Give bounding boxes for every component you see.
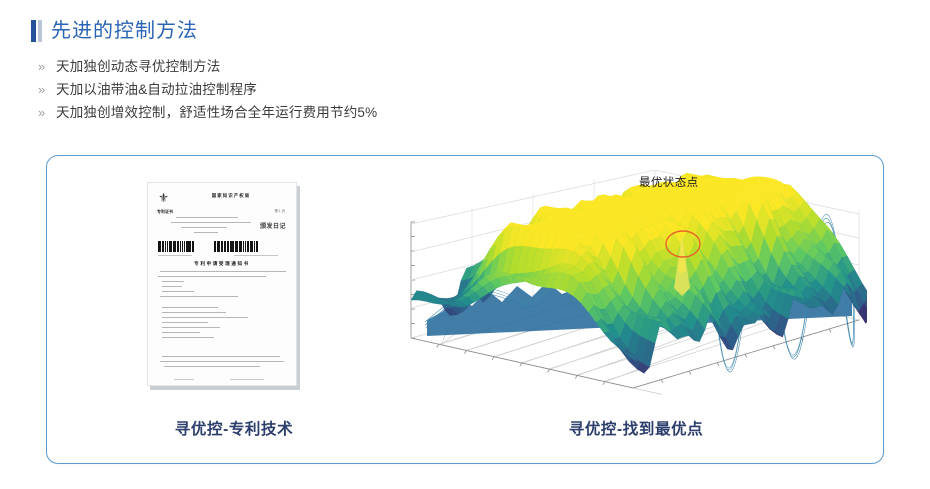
document-stamp: 颁发日记 [260, 221, 286, 230]
chevron-double-right-icon: » [38, 101, 56, 124]
surface-plot-panel: 最优状态点 [387, 156, 885, 463]
list-item-label: 天加以油带油&自动拉油控制程序 [56, 78, 257, 101]
list-item: » 天加独创动态寻优控制方法 [38, 55, 738, 78]
document-page: ⚜ 国家知识产权局 专利证书 第 1 页 颁发日记 [147, 182, 297, 386]
patent-panel: ⚜ 国家知识产权局 专利证书 第 1 页 颁发日记 [69, 156, 399, 463]
page-title-text: 先进的控制方法 [51, 20, 198, 42]
surface-mesh [411, 173, 867, 373]
list-item-label: 天加独创动态寻优控制方法 [56, 55, 220, 78]
document-subtitle: 专利证书 [157, 209, 173, 215]
barcode-right [214, 241, 258, 252]
national-emblem-icon: ⚜ [157, 191, 170, 205]
document-page-number: 第 1 页 [274, 208, 285, 213]
list-item: » 天加以油带油&自动拉油控制程序 [38, 78, 738, 101]
chevron-double-right-icon: » [38, 55, 56, 78]
list-item: » 天加独创增效控制，舒适性场合全年运行费用节约5% [38, 101, 738, 124]
surface-plot-svg [397, 170, 867, 400]
page-title: 先进的控制方法 [31, 18, 198, 44]
chevron-double-right-icon: » [38, 78, 56, 101]
heading-bars-icon [31, 20, 42, 42]
content-card: ⚜ 国家知识产权局 专利证书 第 1 页 颁发日记 [46, 155, 884, 464]
surface-plot-caption: 寻优控-找到最优点 [387, 417, 885, 439]
patent-caption: 寻优控-专利技术 [69, 417, 399, 439]
patent-document-image: ⚜ 国家知识产权局 专利证书 第 1 页 颁发日记 [147, 182, 297, 386]
optimal-point-annotation: 最优状态点 [639, 174, 699, 190]
document-body-title: 专利申请受理通知书 [148, 261, 296, 267]
feature-bullet-list: » 天加独创动态寻优控制方法 » 天加以油带油&自动拉油控制程序 » 天加独创增… [38, 55, 738, 124]
document-title: 国家知识产权局 [194, 193, 268, 199]
barcode-left [158, 241, 195, 252]
surface-plot: 最优状态点 [397, 170, 867, 400]
list-item-label: 天加独创增效控制，舒适性场合全年运行费用节约5% [56, 101, 377, 124]
